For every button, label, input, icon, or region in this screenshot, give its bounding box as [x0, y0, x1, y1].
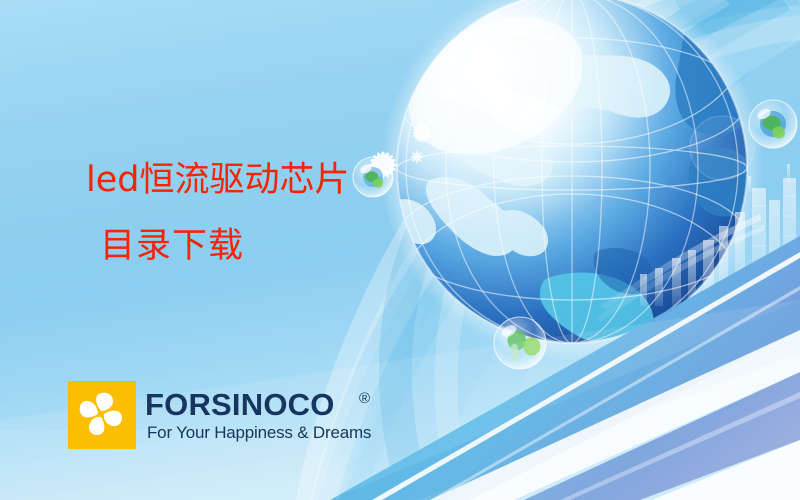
four-petal-pinwheel-icon	[68, 381, 136, 449]
logo-wordmark-text: FORSINOCO	[145, 388, 335, 422]
logo-tagline: For Your Happiness & Dreams	[147, 423, 393, 443]
bubble-globe-icon	[353, 157, 393, 197]
logo-text-block: FORSINOCO ® For Your Happiness & Dreams	[145, 388, 393, 443]
bubble-globe-icon	[749, 100, 797, 148]
registered-trademark-icon: ®	[359, 390, 370, 407]
logo-wordmark: FORSINOCO ®	[145, 388, 393, 422]
bubble-icon	[690, 116, 754, 180]
company-logo[interactable]: FORSINOCO ® For Your Happiness & Dreams	[68, 381, 393, 449]
slide-canvas: led恒流驱动芯片 目录下载 FORSINOCO ® For Your Happ…	[0, 0, 800, 500]
